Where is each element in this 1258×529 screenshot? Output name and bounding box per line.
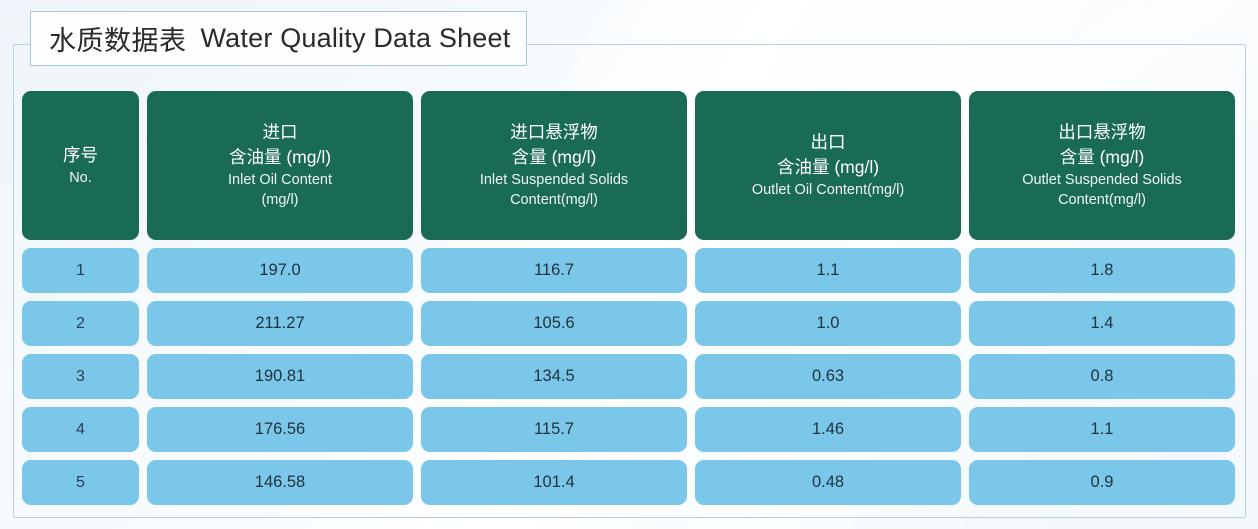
header-text-block: 出口悬浮物含量 (mg/l)Outlet Suspended SolidsCon… [1022,120,1182,211]
table-header-cell-inlet_oil: 进口含油量 (mg/l)Inlet Oil Content(mg/l) [147,91,413,240]
table-header-cell-no: 序号No. [22,91,139,240]
header-line: Content(mg/l) [1058,190,1146,211]
table-cell-outlet_oil: 0.48 [695,460,961,505]
header-text-block: 序号No. [63,143,98,188]
table-cell-outlet_ss: 1.4 [969,301,1235,346]
table-cell-no: 3 [22,354,139,399]
table-cell-no: 4 [22,407,139,452]
table-cell-inlet_oil: 146.58 [147,460,413,505]
table-header-cell-outlet_oil: 出口含油量 (mg/l)Outlet Oil Content(mg/l) [695,91,961,240]
table-cell-inlet_ss: 105.6 [421,301,687,346]
table-cell-inlet_oil: 211.27 [147,301,413,346]
header-line: No. [69,168,92,189]
table-row: 4176.56115.71.461.1 [22,407,1236,452]
header-text-block: 出口含油量 (mg/l)Outlet Oil Content(mg/l) [752,130,904,200]
table-row: 1197.0116.71.11.8 [22,248,1236,293]
header-line: 含量 (mg/l) [512,145,597,170]
header-line: 含油量 (mg/l) [777,155,879,180]
page-title-english: Water Quality Data Sheet [201,23,511,54]
table-cell-outlet_ss: 0.8 [969,354,1235,399]
table-cell-outlet_ss: 0.9 [969,460,1235,505]
table-cell-outlet_ss: 1.1 [969,407,1235,452]
header-line: Inlet Suspended Solids [480,170,628,191]
header-line: Content(mg/l) [510,190,598,211]
header-line: 出口悬浮物 [1058,120,1146,145]
table-cell-outlet_oil: 0.63 [695,354,961,399]
table-body: 1197.0116.71.11.82211.27105.61.01.43190.… [22,248,1236,505]
header-line: 含量 (mg/l) [1060,145,1145,170]
table-cell-no: 1 [22,248,139,293]
table-header-row: 序号No.进口含油量 (mg/l)Inlet Oil Content(mg/l)… [22,91,1236,240]
page-title: 水质数据表 Water Quality Data Sheet [30,11,527,66]
header-text-block: 进口悬浮物含量 (mg/l)Inlet Suspended SolidsCont… [480,120,628,211]
header-text-block: 进口含油量 (mg/l)Inlet Oil Content(mg/l) [228,120,332,211]
table-cell-no: 5 [22,460,139,505]
table-row: 3190.81134.50.630.8 [22,354,1236,399]
table-cell-inlet_oil: 190.81 [147,354,413,399]
table-cell-inlet_oil: 197.0 [147,248,413,293]
header-line: (mg/l) [261,190,298,211]
header-line: 序号 [63,143,98,168]
header-line: Outlet Suspended Solids [1022,170,1182,191]
header-line: Outlet Oil Content(mg/l) [752,180,904,201]
table-cell-outlet_ss: 1.8 [969,248,1235,293]
table-cell-no: 2 [22,301,139,346]
table-row: 5146.58101.40.480.9 [22,460,1236,505]
header-line: 进口悬浮物 [510,120,598,145]
table-header-cell-inlet_ss: 进口悬浮物含量 (mg/l)Inlet Suspended SolidsCont… [421,91,687,240]
header-line: 出口 [811,130,846,155]
table-row: 2211.27105.61.01.4 [22,301,1236,346]
table-cell-inlet_ss: 134.5 [421,354,687,399]
table-cell-inlet_ss: 101.4 [421,460,687,505]
table-cell-inlet_ss: 115.7 [421,407,687,452]
table-cell-outlet_oil: 1.46 [695,407,961,452]
header-line: 含油量 (mg/l) [229,145,331,170]
page-title-chinese: 水质数据表 [49,19,187,58]
table-cell-outlet_oil: 1.0 [695,301,961,346]
water-quality-table: 序号No.进口含油量 (mg/l)Inlet Oil Content(mg/l)… [22,91,1236,505]
header-line: Inlet Oil Content [228,170,332,191]
table-cell-inlet_oil: 176.56 [147,407,413,452]
header-line: 进口 [262,120,297,145]
table-cell-inlet_ss: 116.7 [421,248,687,293]
table-header-cell-outlet_ss: 出口悬浮物含量 (mg/l)Outlet Suspended SolidsCon… [969,91,1235,240]
table-cell-outlet_oil: 1.1 [695,248,961,293]
